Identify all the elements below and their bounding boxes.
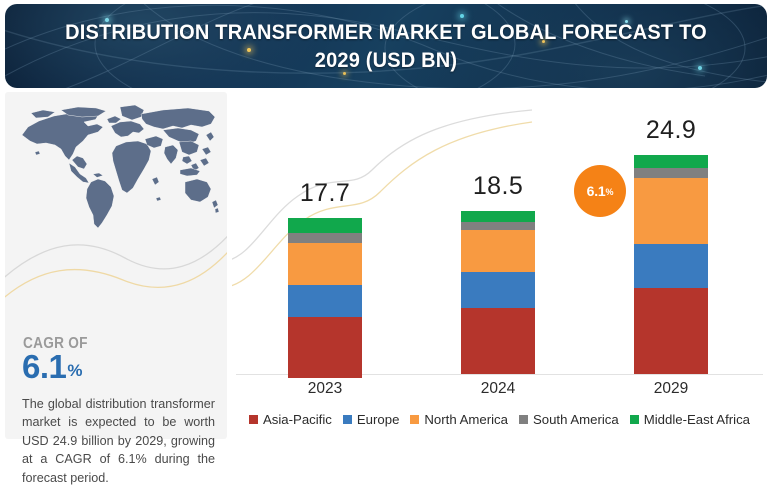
x-axis-label-2024: 2024 [458, 380, 538, 398]
legend-label: South America [533, 412, 619, 427]
legend-swatch-icon [519, 415, 528, 424]
x-axis-label-2023: 2023 [285, 380, 365, 398]
bar-2023[interactable] [288, 218, 362, 374]
bar-segment-asia-pacific[interactable] [634, 288, 708, 374]
cagr-callout-value: 6.1 [587, 183, 606, 199]
chart-legend: Asia-PacificEuropeNorth AmericaSouth Ame… [232, 412, 767, 427]
stacked-bar-chart: 17.7202318.5202424.92029 6.1% [232, 92, 767, 439]
summary-description: The global distribution transformer mark… [22, 395, 215, 487]
bar-segment-middle-east-africa[interactable] [634, 155, 708, 168]
legend-label: Asia-Pacific [263, 412, 332, 427]
bar-segment-middle-east-africa[interactable] [461, 211, 535, 222]
bar-segment-asia-pacific[interactable] [288, 317, 362, 379]
legend-item-north-america[interactable]: North America [410, 412, 508, 427]
bar-segment-south-america[interactable] [634, 168, 708, 178]
bar-segment-middle-east-africa[interactable] [288, 218, 362, 233]
bar-value-label-2024: 18.5 [466, 172, 530, 201]
cagr-callout-text: 6.1% [587, 183, 614, 199]
bar-segment-south-america[interactable] [288, 233, 362, 243]
legend-item-europe[interactable]: Europe [343, 412, 400, 427]
bar-2024[interactable] [461, 211, 535, 374]
bar-segment-europe[interactable] [288, 285, 362, 317]
legend-swatch-icon [410, 415, 419, 424]
legend-swatch-icon [630, 415, 639, 424]
bar-segment-asia-pacific[interactable] [461, 308, 535, 374]
legend-label: North America [424, 412, 508, 427]
bar-segment-south-america[interactable] [461, 222, 535, 230]
bar-segment-europe[interactable] [634, 244, 708, 288]
legend-swatch-icon [249, 415, 258, 424]
bar-segment-europe[interactable] [461, 272, 535, 308]
bar-segment-north-america[interactable] [461, 230, 535, 272]
x-axis-label-2029: 2029 [631, 380, 711, 398]
page-title: DISTRIBUTION TRANSFORMER MARKET GLOBAL F… [32, 4, 741, 88]
cagr-callout-percent: % [606, 187, 614, 197]
legend-item-asia-pacific[interactable]: Asia-Pacific [249, 412, 332, 427]
cagr-percent-symbol: % [67, 361, 82, 380]
cagr-number: 6.1 [22, 348, 66, 385]
bar-value-label-2029: 24.9 [639, 116, 703, 145]
legend-item-south-america[interactable]: South America [519, 412, 619, 427]
bar-segment-north-america[interactable] [634, 178, 708, 244]
cagr-value: 6.1% [22, 348, 82, 390]
bar-value-label-2023: 17.7 [293, 179, 357, 208]
cagr-callout-bubble: 6.1% [574, 165, 626, 217]
infographic-page: DISTRIBUTION TRANSFORMER MARKET GLOBAL F… [0, 0, 772, 443]
summary-panel: CAGR OF 6.1% The global distribution tra… [5, 92, 227, 439]
bar-segment-north-america[interactable] [288, 243, 362, 285]
legend-swatch-icon [343, 415, 352, 424]
chart-plot-area: 17.7202318.5202424.92029 [232, 92, 767, 439]
world-map-icon [13, 104, 219, 230]
header-banner: DISTRIBUTION TRANSFORMER MARKET GLOBAL F… [5, 4, 767, 88]
legend-label: Europe [357, 412, 400, 427]
world-map [13, 104, 219, 230]
legend-item-middle-east-africa[interactable]: Middle-East Africa [630, 412, 750, 427]
bar-2029[interactable] [634, 155, 708, 374]
legend-label: Middle-East Africa [644, 412, 750, 427]
